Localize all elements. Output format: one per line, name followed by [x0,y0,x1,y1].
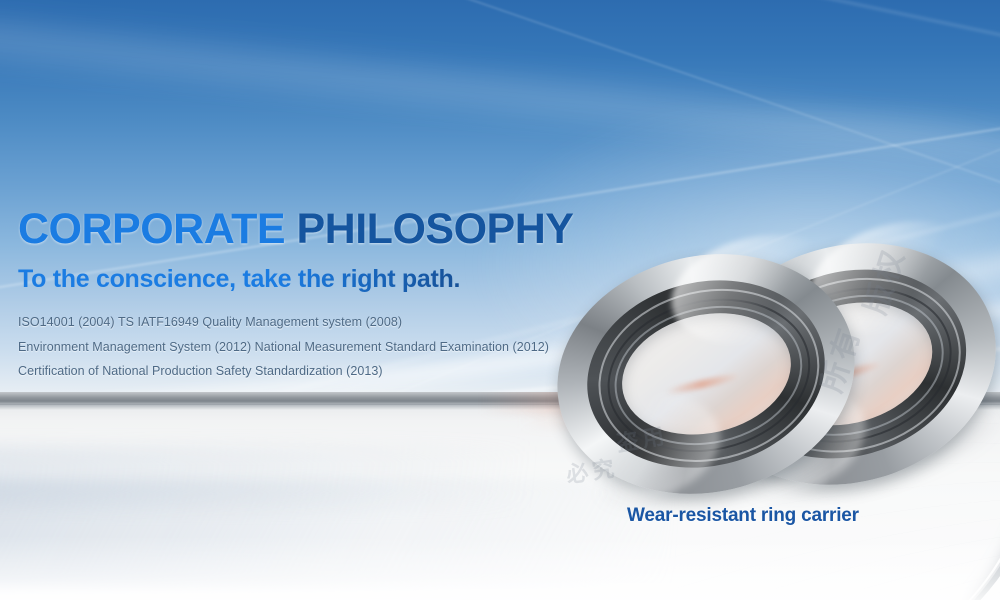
facet-streak-5 [0,0,1000,202]
corporate-philosophy-banner: 版权 所有 盗用 必究 CORPORATE PHILOSOPHY To the … [0,0,1000,600]
product-caption: Wear-resistant ring carrier [627,505,859,527]
certification-line: Environment Management System (2012) Nat… [18,340,638,354]
page-title-word-corporate: CORPORATE [18,205,285,253]
certification-line: ISO14001 (2004) TS IATF16949 Quality Man… [18,315,638,329]
floor-bottom-fade [0,536,1000,600]
headline-copy-block: CORPORATE PHILOSOPHY To the conscience, … [18,208,638,388]
certification-list: ISO14001 (2004) TS IATF16949 Quality Man… [18,315,638,378]
ring-bore-reflection [664,372,739,397]
page-subtitle: To the conscience, take the right path. [18,266,638,294]
certification-line: Certification of National Production Saf… [18,364,638,378]
page-title: CORPORATE PHILOSOPHY [18,208,638,252]
facet-streak-6 [104,0,1000,74]
page-title-word-philosophy: PHILOSOPHY [297,205,574,253]
